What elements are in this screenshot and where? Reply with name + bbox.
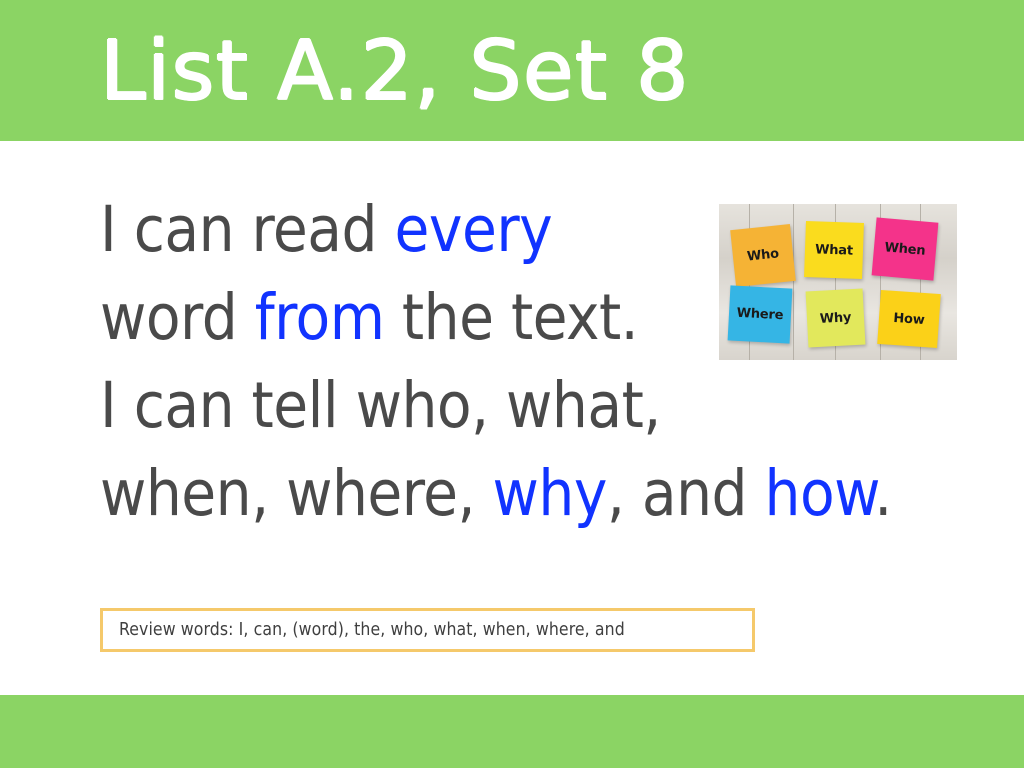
slide: List A.2, Set 8 I can read every word fr… [0,0,1024,768]
highlight-word-why: why [493,457,607,530]
statement-text: I can read [100,193,395,266]
statement-text: when, where, [100,457,493,530]
sticky-note-why: Why [806,289,866,348]
statement-text: , and [607,457,765,530]
sticky-note-label: Why [819,310,851,327]
statement-line-3: I can tell who, what, [100,362,980,450]
statement-text: . [874,457,892,530]
review-words-box: Review words: I, can, (word), the, who, … [100,608,755,652]
sticky-note-label: How [893,310,925,327]
sticky-note-label: Where [736,306,783,323]
footer-banner [0,695,1024,768]
sticky-notes-photo: Who What When Where Why How [719,204,957,360]
sticky-note-what: What [804,221,864,279]
highlight-word-how: how [765,457,875,530]
sticky-note-label: Who [746,246,779,264]
statement-line-4: when, where, why, and how. [100,450,980,538]
review-words-text: Review words: I, can, (word), the, who, … [103,620,625,640]
sticky-note-how: How [877,290,941,348]
highlight-word-from: from [255,281,385,354]
statement-text: I can tell who, what, [100,369,661,442]
sticky-note-label: What [815,242,853,258]
sticky-note-who: Who [730,224,796,287]
sticky-note-label: When [884,240,926,259]
statement-text: word [100,281,255,354]
statement-text: the text. [384,281,638,354]
highlight-word-every: every [395,193,553,266]
page-title: List A.2, Set 8 [100,24,690,120]
sticky-note-where: Where [728,285,793,343]
sticky-note-when: When [872,217,939,280]
